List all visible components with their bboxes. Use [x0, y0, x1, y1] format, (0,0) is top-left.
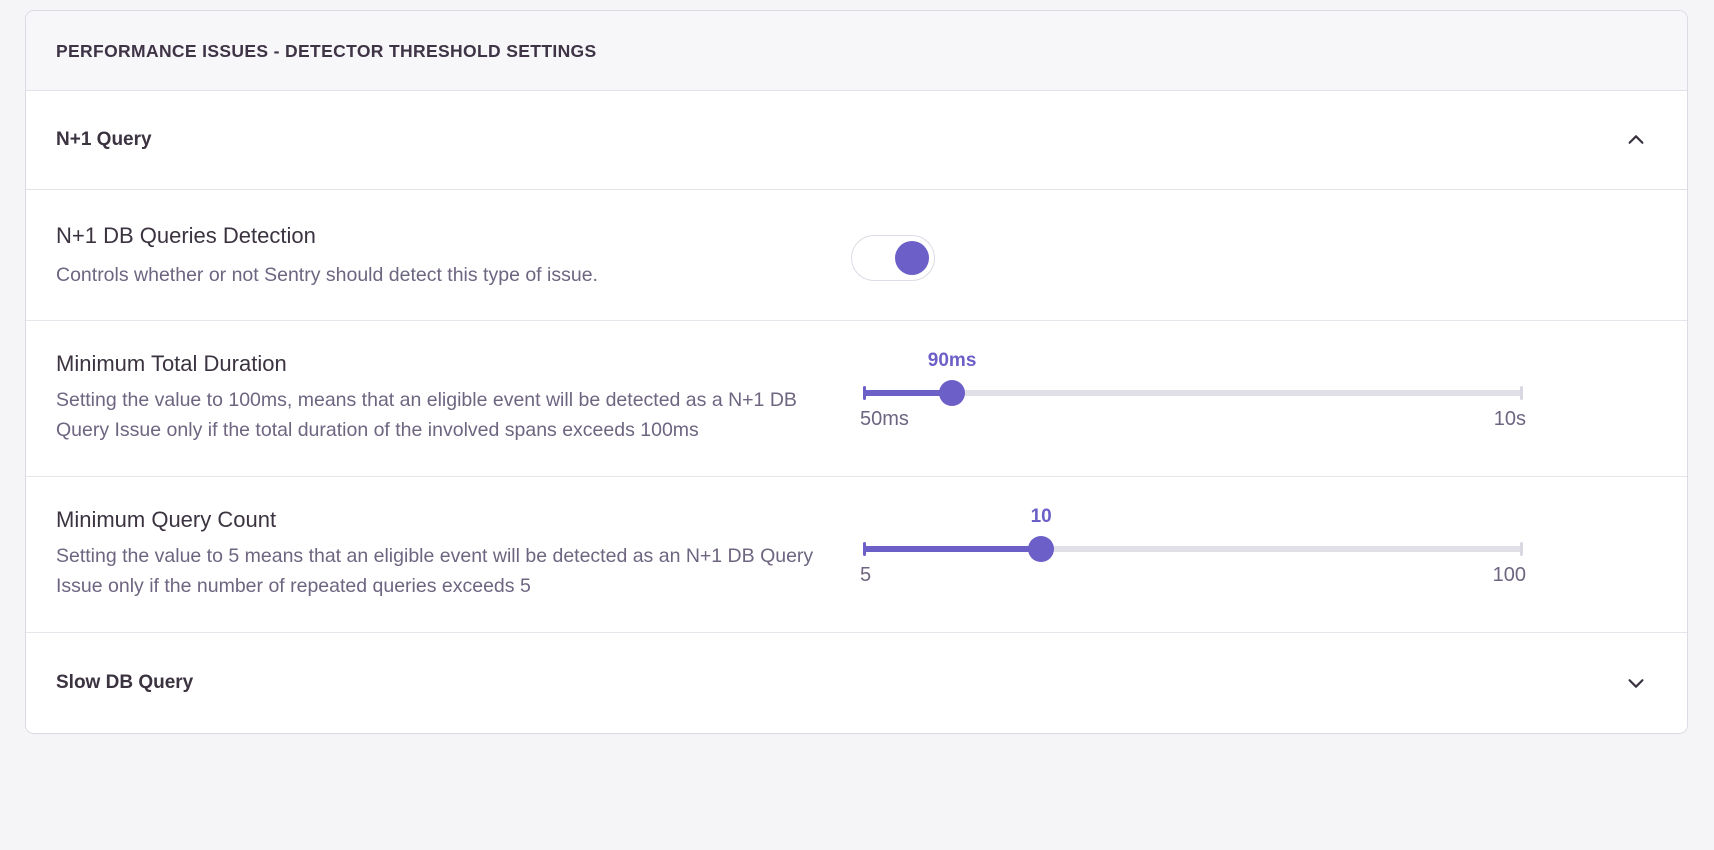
slider-cap-left [863, 386, 866, 400]
minimum-query-count-slider[interactable]: 10 5 100 [863, 506, 1523, 592]
setting-description: Setting the value to 100ms, means that a… [56, 385, 816, 445]
slider-current-value: 90ms [928, 350, 977, 372]
chevron-up-icon[interactable] [1625, 129, 1647, 151]
setting-row-minimum-total-duration: Minimum Total Duration Setting the value… [26, 321, 1687, 477]
slider-fill [863, 546, 1041, 552]
setting-text-block: Minimum Query Count Setting the value to… [56, 506, 851, 602]
n1-db-queries-detection-toggle[interactable] [851, 235, 935, 281]
setting-control-block [851, 231, 1657, 281]
detector-threshold-settings-panel: PERFORMANCE ISSUES - DETECTOR THRESHOLD … [25, 10, 1688, 734]
chevron-down-icon[interactable] [1625, 672, 1647, 694]
slider-cap-right [1520, 542, 1523, 556]
slider-thumb[interactable] [939, 380, 965, 406]
panel-header: PERFORMANCE ISSUES - DETECTOR THRESHOLD … [26, 11, 1687, 91]
setting-description: Controls whether or not Sentry should de… [56, 260, 816, 290]
slider-max-label: 10s [1494, 408, 1526, 431]
slider-min-label: 50ms [860, 408, 909, 431]
group-header-n1-query[interactable]: N+1 Query [26, 91, 1687, 190]
slider-current-value: 10 [1031, 506, 1052, 528]
setting-description: Setting the value to 5 means that an eli… [56, 541, 816, 601]
setting-title: N+1 DB Queries Detection [56, 222, 851, 250]
toggle-knob [895, 241, 929, 275]
group-title-slow-db-query: Slow DB Query [56, 672, 193, 694]
setting-title: Minimum Total Duration [56, 350, 851, 378]
slider-max-label: 100 [1493, 564, 1526, 587]
setting-row-minimum-query-count: Minimum Query Count Setting the value to… [26, 477, 1687, 633]
setting-title: Minimum Query Count [56, 506, 851, 534]
setting-text-block: N+1 DB Queries Detection Controls whethe… [56, 222, 851, 290]
setting-text-block: Minimum Total Duration Setting the value… [56, 350, 851, 446]
minimum-total-duration-slider[interactable]: 90ms 50ms 10s [863, 350, 1523, 436]
slider-thumb[interactable] [1028, 536, 1054, 562]
group-header-slow-db-query[interactable]: Slow DB Query [26, 633, 1687, 733]
page-title: PERFORMANCE ISSUES - DETECTOR THRESHOLD … [56, 41, 1687, 62]
slider-cap-left [863, 542, 866, 556]
slider-cap-right [1520, 386, 1523, 400]
setting-control-block: 10 5 100 [851, 506, 1657, 592]
group-title-n1-query: N+1 Query [56, 129, 152, 151]
setting-row-n1-db-queries-detection: N+1 DB Queries Detection Controls whethe… [26, 190, 1687, 321]
slider-min-label: 5 [860, 564, 871, 587]
setting-control-block: 90ms 50ms 10s [851, 350, 1657, 436]
